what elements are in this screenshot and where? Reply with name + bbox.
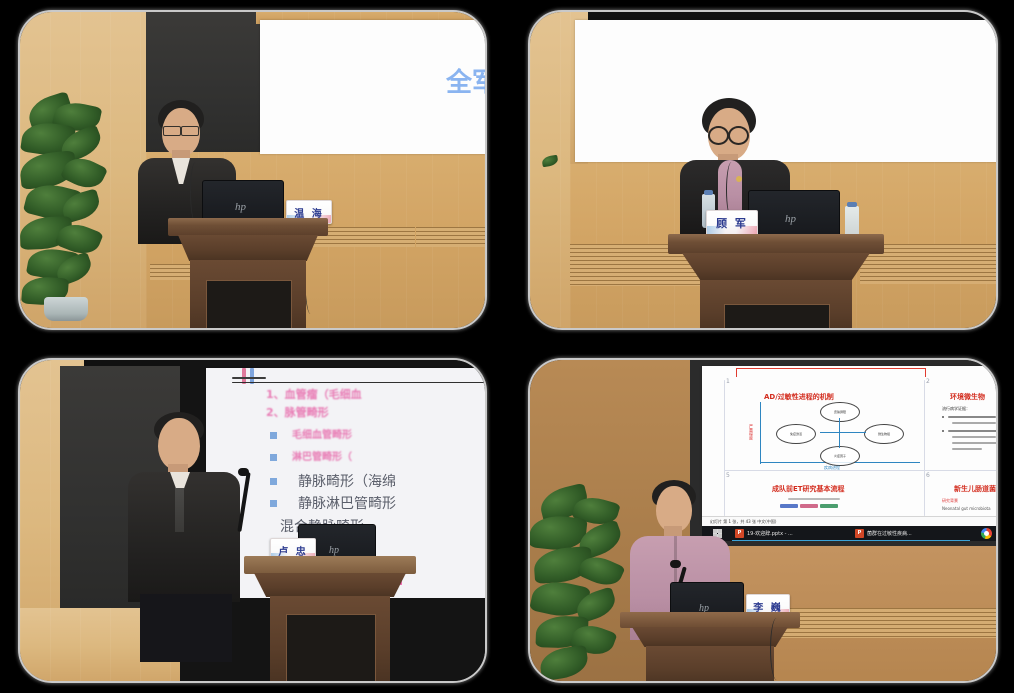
slide-line-5: 静脉畸形（海绵 <box>298 471 396 491</box>
slide-thumb-6-sub2: Neonatal gut microbiota <box>942 506 991 511</box>
microphone-cable <box>190 162 201 222</box>
photo-panel-top-right[interactable]: hp 顾 军 <box>528 10 998 330</box>
hp-logo-icon: hp <box>329 545 339 556</box>
microphone-head <box>670 560 681 568</box>
suit-jacket <box>128 472 240 602</box>
slide-thumb-6-sub: 研究背景 <box>942 498 958 504</box>
slide-thumb-6-title: 新生儿肠道菌群 <box>954 484 996 494</box>
slide-selection-bracket <box>736 368 926 377</box>
photo-panel-bottom-left[interactable]: 1、血管瘤（毛细血 2、脉管畸形 毛细血管畸形 淋巴管畸形（ 静脉畸形（海绵 静… <box>18 358 487 683</box>
slide-line-6: 静脉淋巴管畸形 <box>298 493 396 513</box>
screen-title-text: 全军 <box>446 62 485 99</box>
diagram-oval-right: 微生物组 <box>864 424 904 444</box>
slide-thumb-2-sub: 流行病学证据： <box>942 406 970 412</box>
slide-line-2: 2、脉管畸形 <box>266 404 329 420</box>
slide-number-2: 2 <box>926 378 930 385</box>
podium <box>244 556 416 681</box>
photo-panel-top-left[interactable]: 全军 <box>18 10 487 330</box>
taskbar-item-1-label: 19-欢迎辞.pptx - ... <box>747 530 793 537</box>
diagram-connector-h <box>820 432 866 433</box>
taskbar-item-pptx-2[interactable]: P 菌群在过敏性疾病... <box>852 526 970 541</box>
projection-screen: 全军 <box>260 20 485 154</box>
glasses-lens-left <box>708 126 729 145</box>
trousers <box>140 594 232 662</box>
photo-scene-1: 全军 <box>20 12 485 328</box>
louver-vent-right <box>776 608 996 638</box>
taskbar-item-2-label: 菌群在过敏性疾病... <box>867 530 912 537</box>
slide-thumb-5-title: 成队前ET研究基本流程 <box>772 484 845 494</box>
nameplate-text: 卢 忠 <box>278 543 307 558</box>
nameplate-text: 李 巍 <box>753 599 782 614</box>
laptop-lid: hp <box>748 190 840 238</box>
slide-bullet-2 <box>270 454 277 461</box>
potted-plant <box>20 97 120 317</box>
slide-number-5: 5 <box>726 472 730 479</box>
podium <box>168 218 328 328</box>
speaker-nameplate: 顾 军 <box>706 210 758 236</box>
slide-line-4: 淋巴管畸形（ <box>292 448 352 463</box>
power-cable <box>770 618 783 680</box>
necktie <box>175 488 184 532</box>
head <box>158 418 200 470</box>
podium <box>668 234 884 328</box>
diagram-y-label: 严重程度 <box>748 424 754 440</box>
louver-vent-right <box>416 227 485 247</box>
slide-bullet-1 <box>270 432 277 439</box>
slide-bullet-3 <box>270 478 277 485</box>
diagram-oval-left: 免疫激活 <box>776 424 816 444</box>
slide-number-1: 1 <box>726 378 730 385</box>
glasses-lens-right <box>181 126 199 136</box>
hp-logo-icon: hp <box>785 213 796 225</box>
slide-thumb-2-title: 环境微生物 <box>950 392 985 402</box>
diagram-x-label: 疾病进程 <box>824 465 840 471</box>
glasses-lens-left <box>163 126 181 136</box>
nameplate-text: 顾 军 <box>716 215 748 231</box>
photo-panel-bottom-right[interactable]: 1 2 5 6 AD/过敏性进程的机制 皮肤屏障 免疫激活 微生物组 炎症因子 … <box>528 358 998 683</box>
slide-thumb-1-title: AD/过敏性进程的机制 <box>764 392 834 402</box>
hp-logo-icon: hp <box>235 201 246 213</box>
speaker-person <box>128 412 258 662</box>
taskbar-item-pptx-1[interactable]: P 19-欢迎辞.pptx - ... <box>732 526 852 541</box>
water-bottle-cap-left <box>704 190 713 195</box>
plant-pot <box>44 297 88 321</box>
taskbar-item-chrome[interactable] <box>970 526 996 541</box>
photo-scene-3: 1、血管瘤（毛细血 2、脉管畸形 毛细血管畸形 淋巴管畸形（ 静脉畸形（海绵 静… <box>20 360 485 681</box>
slide-line-3: 毛细血管畸形 <box>292 426 352 441</box>
slide-bullet-4 <box>270 500 277 507</box>
diagram-y-axis <box>760 402 761 464</box>
diagram-oval-top: 皮肤屏障 <box>820 402 860 422</box>
slide-line-1: 1、血管瘤（毛细血 <box>266 386 362 402</box>
diagram-connector-v <box>839 418 840 448</box>
water-bottle-cap-right <box>847 202 857 207</box>
diagram-oval-bottom: 炎症因子 <box>820 446 860 466</box>
chrome-icon[interactable] <box>981 528 992 539</box>
slide-number-6: 6 <box>926 472 930 479</box>
nameplate-text: 温 海 <box>294 205 323 220</box>
lapel-pin-icon <box>736 176 742 182</box>
photo-scene-4: 1 2 5 6 AD/过敏性进程的机制 皮肤屏障 免疫激活 微生物组 炎症因子 … <box>530 360 996 681</box>
powerpoint-icon: P <box>855 529 864 538</box>
microphone-head <box>238 468 249 476</box>
photo-scene-2: hp 顾 军 <box>530 12 996 328</box>
photo-collage: 全军 <box>0 0 1014 693</box>
glasses-lens-right <box>728 126 749 145</box>
